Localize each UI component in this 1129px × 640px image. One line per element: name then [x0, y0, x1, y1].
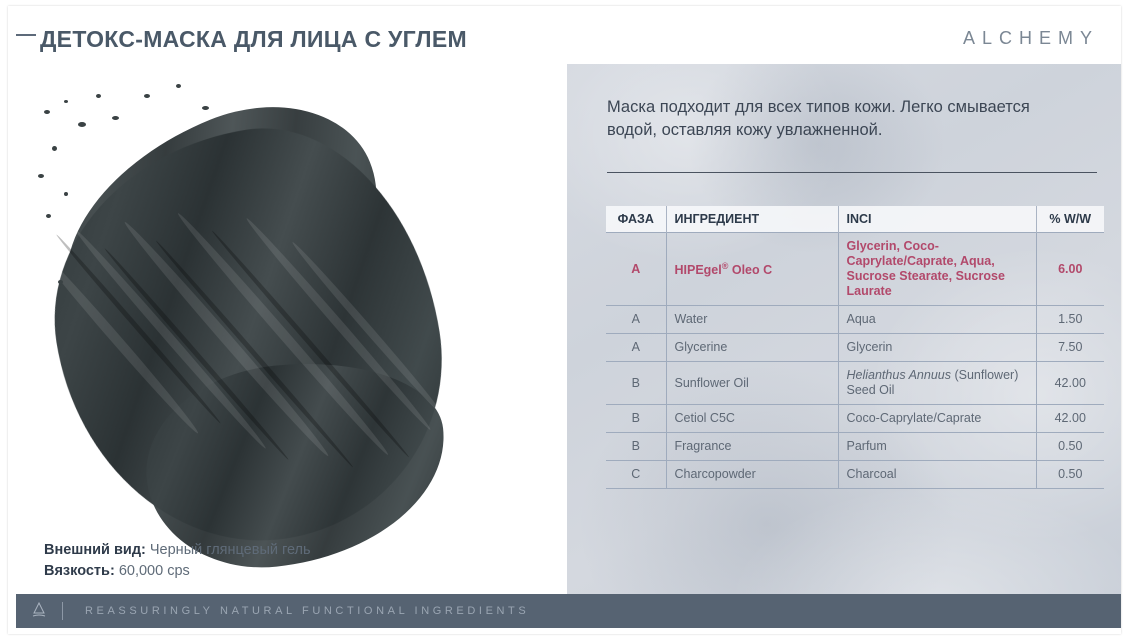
cell-inci: Glycerin — [838, 334, 1036, 362]
column-header-phase: ФАЗА — [606, 206, 666, 233]
cell-ingredient: HIPEgel® Oleo C — [666, 233, 838, 306]
panel-intro-text: Маска подходит для всех типов кожи. Легк… — [607, 96, 1077, 142]
caption-appearance-value: Черный глянцевый гель — [150, 542, 311, 558]
table-head: ФАЗА ИНГРЕДИЕНТ INCI % W/W — [606, 206, 1104, 233]
table-row: AGlycerineGlycerin7.50 — [606, 334, 1104, 362]
column-header-inci: INCI — [838, 206, 1036, 233]
caption-appearance: Внешний вид: Черный глянцевый гель — [44, 540, 311, 561]
cell-inci: Coco-Caprylate/Caprate — [838, 405, 1036, 433]
table-row: AHIPEgel® Oleo CGlycerin, Coco-Caprylate… — [606, 233, 1104, 306]
smear-fleck — [112, 116, 119, 120]
cell-inci: Parfum — [838, 433, 1036, 461]
cell-phase: A — [606, 233, 666, 306]
smear-fleck — [78, 122, 86, 127]
table-row: BFragranceParfum0.50 — [606, 433, 1104, 461]
ingredients-table: ФАЗА ИНГРЕДИЕНТ INCI % W/W AHIPEgel® Ole… — [606, 206, 1104, 489]
slide-footer: REASSURINGLY NATURAL FUNCTIONAL INGREDIE… — [16, 594, 1121, 628]
cell-phase: B — [606, 362, 666, 405]
table-row: BCetiol C5CCoco-Caprylate/Caprate42.00 — [606, 405, 1104, 433]
cell-percent: 42.00 — [1036, 362, 1104, 405]
caption-viscosity: Вязкость: 60,000 cps — [44, 561, 311, 582]
footer-tagline: REASSURINGLY NATURAL FUNCTIONAL INGREDIE… — [85, 605, 529, 617]
cell-phase: A — [606, 334, 666, 362]
smear-fleck — [38, 174, 44, 178]
cell-percent: 42.00 — [1036, 405, 1104, 433]
ingredient-name: HIPEgel — [675, 264, 722, 278]
column-header-ingredient: ИНГРЕДИЕНТ — [666, 206, 838, 233]
smear-fleck — [46, 214, 51, 218]
ingredient-suffix: Oleo C — [728, 264, 772, 278]
smear-fleck — [44, 110, 50, 114]
panel-divider-rule — [607, 172, 1097, 173]
footer-divider — [62, 602, 63, 620]
brand-logo: ALCHEMY — [963, 28, 1099, 49]
slide-canvas: ДЕТОКС-МАСКА ДЛЯ ЛИЦА С УГЛЕМ ALCHEMY — [0, 0, 1129, 640]
caption-viscosity-value: 60,000 cps — [119, 563, 190, 579]
smear-fleck — [72, 246, 78, 250]
cell-ingredient: Water — [666, 306, 838, 334]
alchemy-monogram-icon — [16, 600, 62, 623]
cell-ingredient: Charcopowder — [666, 461, 838, 489]
cell-phase: B — [606, 433, 666, 461]
smear-fleck — [176, 84, 181, 88]
table-row: CCharcopowderCharcoal0.50 — [606, 461, 1104, 489]
cell-ingredient: Cetiol C5C — [666, 405, 838, 433]
caption-appearance-label: Внешний вид: — [44, 542, 146, 558]
caption-viscosity-label: Вязкость: — [44, 563, 115, 579]
cell-percent: 7.50 — [1036, 334, 1104, 362]
cell-ingredient: Glycerine — [666, 334, 838, 362]
inci-botanical-name: Helianthus Annuus — [847, 368, 951, 382]
smear-fleck — [96, 94, 101, 98]
cell-inci: Aqua — [838, 306, 1036, 334]
cell-phase: C — [606, 461, 666, 489]
smear-fleck — [144, 94, 150, 98]
cell-percent: 0.50 — [1036, 461, 1104, 489]
cell-ingredient: Sunflower Oil — [666, 362, 838, 405]
formulation-panel: Маска подходит для всех типов кожи. Легк… — [567, 64, 1121, 600]
product-caption: Внешний вид: Черный глянцевый гель Вязко… — [44, 540, 311, 582]
cell-ingredient: Fragrance — [666, 433, 838, 461]
smear-fleck — [58, 280, 63, 284]
alchemy-monogram-glyph — [29, 600, 49, 620]
smear-fleck — [64, 100, 68, 103]
charcoal-smear-image — [16, 64, 496, 554]
cell-percent: 6.00 — [1036, 233, 1104, 306]
slide-content: ДЕТОКС-МАСКА ДЛЯ ЛИЦА С УГЛЕМ ALCHEMY — [8, 6, 1121, 634]
table-header-row: ФАЗА ИНГРЕДИЕНТ INCI % W/W — [606, 206, 1104, 233]
cell-percent: 1.50 — [1036, 306, 1104, 334]
cell-phase: A — [606, 306, 666, 334]
product-photo-pane: Внешний вид: Черный глянцевый гель Вязко… — [16, 64, 567, 600]
table-row: BSunflower OilHelianthus Annuus (Sunflow… — [606, 362, 1104, 405]
cell-inci: Helianthus Annuus (Sunflower) Seed Oil — [838, 362, 1036, 405]
page-title: ДЕТОКС-МАСКА ДЛЯ ЛИЦА С УГЛЕМ — [40, 26, 467, 53]
cell-phase: B — [606, 405, 666, 433]
slide-header: ДЕТОКС-МАСКА ДЛЯ ЛИЦА С УГЛЕМ ALCHEMY — [8, 6, 1121, 62]
table-row: AWaterAqua1.50 — [606, 306, 1104, 334]
title-dash-accent — [16, 34, 36, 36]
smear-fleck — [64, 192, 68, 196]
cell-inci: Glycerin, Coco-Caprylate/Caprate, Aqua, … — [838, 233, 1036, 306]
column-header-percent: % W/W — [1036, 206, 1104, 233]
smear-fleck — [52, 146, 57, 151]
table-body: AHIPEgel® Oleo CGlycerin, Coco-Caprylate… — [606, 233, 1104, 489]
cell-percent: 0.50 — [1036, 433, 1104, 461]
cell-inci: Charcoal — [838, 461, 1036, 489]
smear-fleck — [202, 106, 209, 110]
